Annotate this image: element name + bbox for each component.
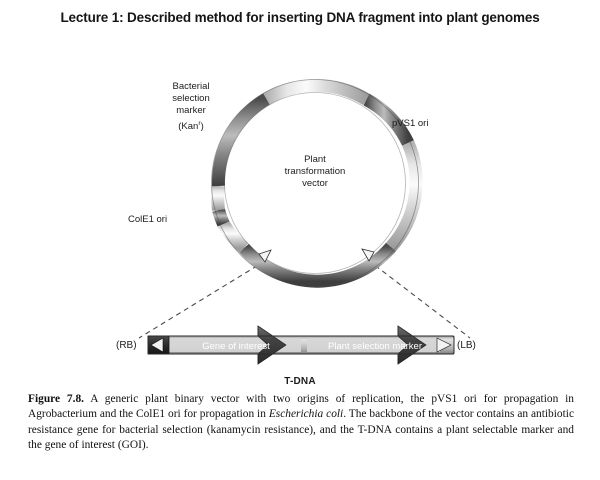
t-dna-construct <box>0 38 600 388</box>
cole1-ori-label: ColE1 ori <box>128 214 212 226</box>
kan-gene-open: (Kan <box>178 121 198 132</box>
figure-number: Figure 7.8. <box>28 393 84 405</box>
kan-gene-close: ) <box>201 121 204 132</box>
slide-title: Lecture 1: Described method for insertin… <box>0 10 600 25</box>
gene-of-interest-label: Gene of interest <box>166 341 306 353</box>
bacterial-selection-marker-text: Bacterial selection marker <box>172 81 210 116</box>
caption-species-name: Escherichia coli <box>269 408 343 420</box>
figure-diagram: Bacterial selection marker(Kanr) ColE1 o… <box>0 38 600 388</box>
right-border-label: (RB) <box>116 340 150 352</box>
figure-caption: Figure 7.8. A generic plant binary vecto… <box>28 392 574 453</box>
pvs1-ori-label: pVS1 ori <box>392 118 472 130</box>
bacterial-selection-marker-label: Bacterial selection marker(Kanr) <box>148 81 234 133</box>
plasmid-center-label: Plant transformation vector <box>253 154 377 191</box>
t-dna-caption-label: T-DNA <box>258 376 342 388</box>
left-border-label: (LB) <box>457 340 491 352</box>
plant-selection-marker-label: Plant selection marker <box>305 341 445 353</box>
